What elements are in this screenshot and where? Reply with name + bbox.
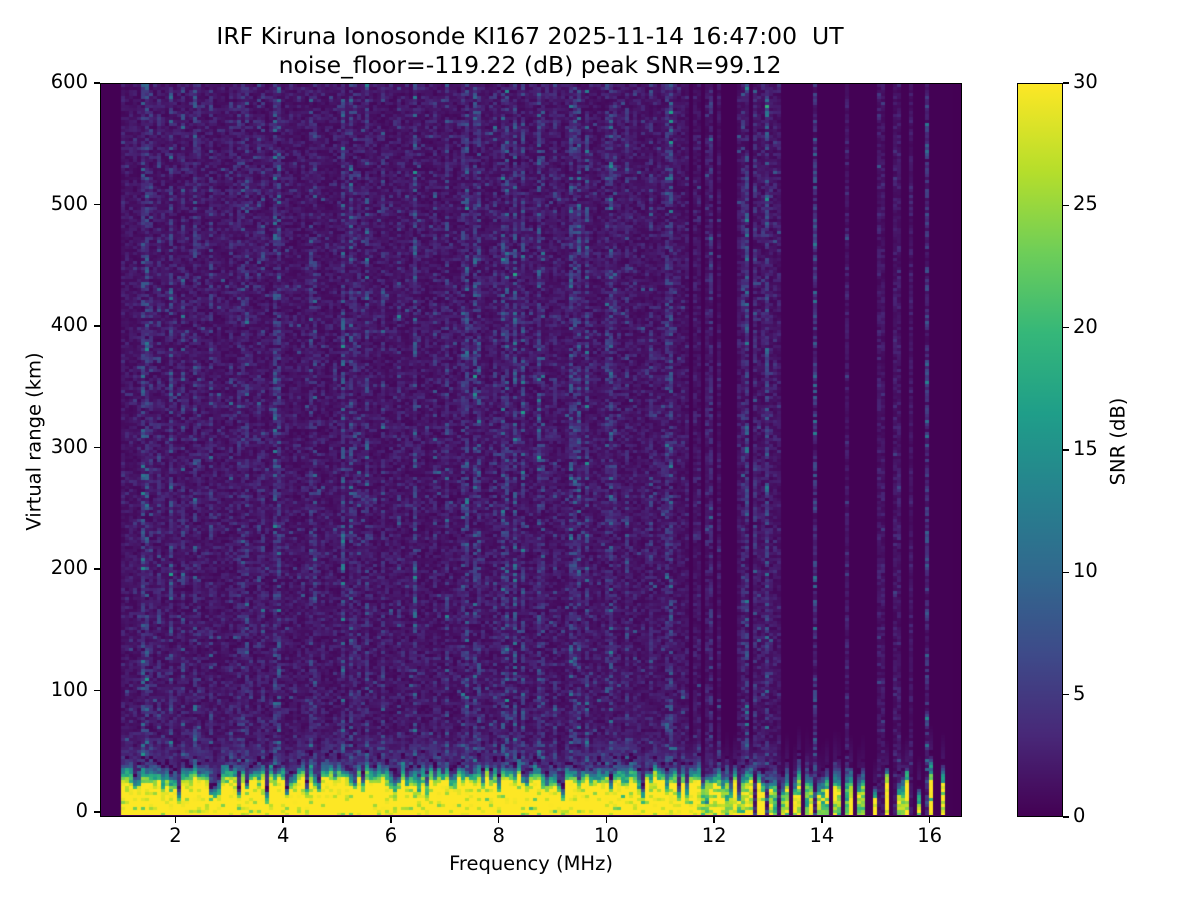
x-tick-mark [390,817,391,823]
x-tick-label: 10 [566,824,646,847]
colorbar-tick-mark [1063,449,1069,450]
x-tick-label: 6 [351,824,431,847]
ionogram-plot-area [100,83,962,817]
x-tick-label: 4 [243,824,323,847]
title-line-2: noise_floor=-119.22 (dB) peak SNR=99.12 [0,51,1060,80]
colorbar-tick-label: 5 [1073,682,1085,705]
y-tick-mark [94,690,100,691]
colorbar-tick-mark [1063,327,1069,328]
x-tick-mark [175,817,176,823]
y-tick-mark [94,204,100,205]
y-tick-label: 600 [0,70,88,93]
x-axis-label: Frequency (MHz) [100,852,962,875]
x-tick-label: 12 [674,824,754,847]
colorbar-tick-label: 15 [1073,437,1098,460]
x-tick-label: 2 [135,824,215,847]
colorbar-gradient [1018,84,1062,816]
x-tick-label: 8 [459,824,539,847]
y-tick-label: 500 [0,192,88,215]
x-tick-mark [606,817,607,823]
colorbar-label: SNR (dB) [1107,142,1130,742]
figure-title: IRF Kiruna Ionosonde KI167 2025-11-14 16… [0,22,1060,80]
y-tick-label: 200 [0,556,88,579]
ionogram-figure: IRF Kiruna Ionosonde KI167 2025-11-14 16… [0,0,1200,900]
colorbar-tick-mark [1063,694,1069,695]
y-tick-mark [94,325,100,326]
colorbar-tick-mark [1063,572,1069,573]
y-tick-mark [94,568,100,569]
y-tick-label: 100 [0,678,88,701]
ionogram-heatmap [101,84,960,815]
colorbar [1017,83,1063,817]
colorbar-tick-label: 0 [1073,804,1085,827]
y-tick-label: 400 [0,313,88,336]
colorbar-tick-mark [1063,205,1069,206]
x-tick-mark [821,817,822,823]
x-tick-mark [713,817,714,823]
colorbar-tick-mark [1063,816,1069,817]
colorbar-tick-label: 30 [1073,70,1098,93]
y-tick-mark [94,447,100,448]
x-tick-mark [929,817,930,823]
y-tick-label: 0 [0,799,88,822]
colorbar-tick-mark [1063,82,1069,83]
colorbar-tick-label: 10 [1073,559,1098,582]
x-tick-mark [498,817,499,823]
x-tick-label: 16 [890,824,970,847]
colorbar-tick-label: 20 [1073,315,1098,338]
colorbar-tick-label: 25 [1073,192,1098,215]
x-tick-mark [282,817,283,823]
y-tick-mark [94,82,100,83]
x-tick-label: 14 [782,824,862,847]
y-tick-mark [94,811,100,812]
title-line-1: IRF Kiruna Ionosonde KI167 2025-11-14 16… [0,22,1060,51]
y-tick-label: 300 [0,435,88,458]
